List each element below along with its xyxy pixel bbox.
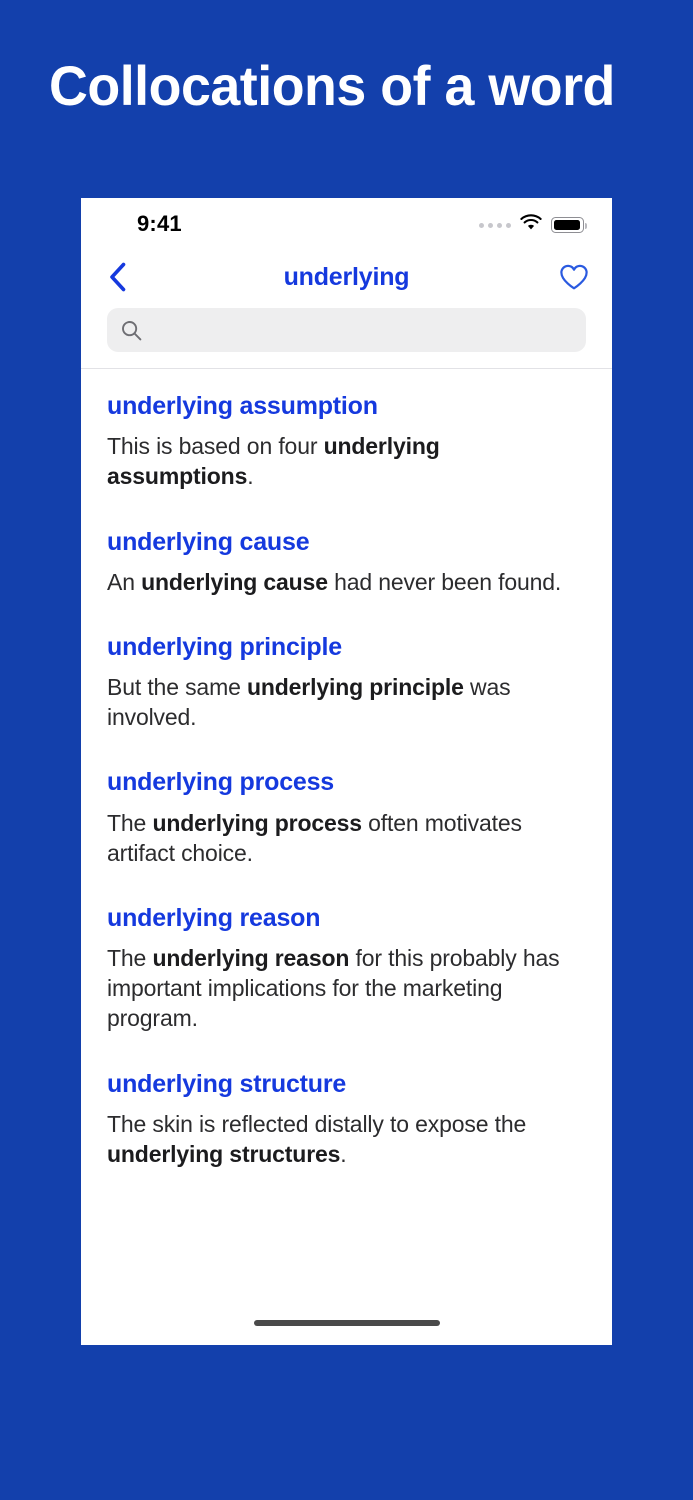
- nav-bar: underlying: [81, 250, 612, 308]
- collocation-example: The skin is reflected distally to expose…: [107, 1109, 586, 1169]
- wifi-icon: [520, 214, 542, 236]
- phone-frame: 9:41: [81, 198, 612, 1345]
- favorite-button[interactable]: [552, 258, 596, 300]
- collocation-example: The underlying process often motivates a…: [107, 808, 586, 868]
- signal-dots-icon: [479, 223, 511, 228]
- status-bar: 9:41: [81, 198, 612, 250]
- nav-title: underlying: [81, 263, 612, 292]
- battery-full-icon: [551, 217, 584, 233]
- collocation-entry[interactable]: underlying structureThe skin is reflecte…: [107, 1069, 586, 1170]
- collocation-headword[interactable]: underlying process: [107, 767, 586, 798]
- collocation-headword[interactable]: underlying principle: [107, 632, 586, 663]
- status-time: 9:41: [137, 211, 182, 237]
- search-icon: [121, 320, 142, 341]
- status-icons: [479, 214, 584, 236]
- collocation-entry[interactable]: underlying causeAn underlying cause had …: [107, 527, 586, 597]
- heart-outline-icon: [559, 263, 589, 296]
- poster-canvas: Collocations of a word 9:41: [0, 0, 693, 1500]
- collocation-headword[interactable]: underlying reason: [107, 903, 586, 934]
- collocation-example: This is based on four underlying assumpt…: [107, 431, 586, 491]
- collocation-entry[interactable]: underlying processThe underlying process…: [107, 767, 586, 868]
- collocation-entry[interactable]: underlying reasonThe underlying reason f…: [107, 903, 586, 1034]
- collocation-headword[interactable]: underlying structure: [107, 1069, 586, 1100]
- page-title: Collocations of a word: [49, 55, 625, 118]
- collocation-example: An underlying cause had never been found…: [107, 567, 586, 597]
- collocation-entry[interactable]: underlying assumptionThis is based on fo…: [107, 391, 586, 492]
- search-input[interactable]: [142, 319, 586, 342]
- collocation-list: underlying assumptionThis is based on fo…: [81, 369, 612, 1169]
- collocation-example: But the same underlying principle was in…: [107, 672, 586, 732]
- collocation-example: The underlying reason for this probably …: [107, 943, 586, 1033]
- collocation-entry[interactable]: underlying principleBut the same underly…: [107, 632, 586, 733]
- home-indicator[interactable]: [254, 1320, 440, 1326]
- collocation-headword[interactable]: underlying assumption: [107, 391, 586, 422]
- search-bar: [81, 308, 612, 368]
- collocation-headword[interactable]: underlying cause: [107, 527, 586, 558]
- search-field[interactable]: [107, 308, 586, 352]
